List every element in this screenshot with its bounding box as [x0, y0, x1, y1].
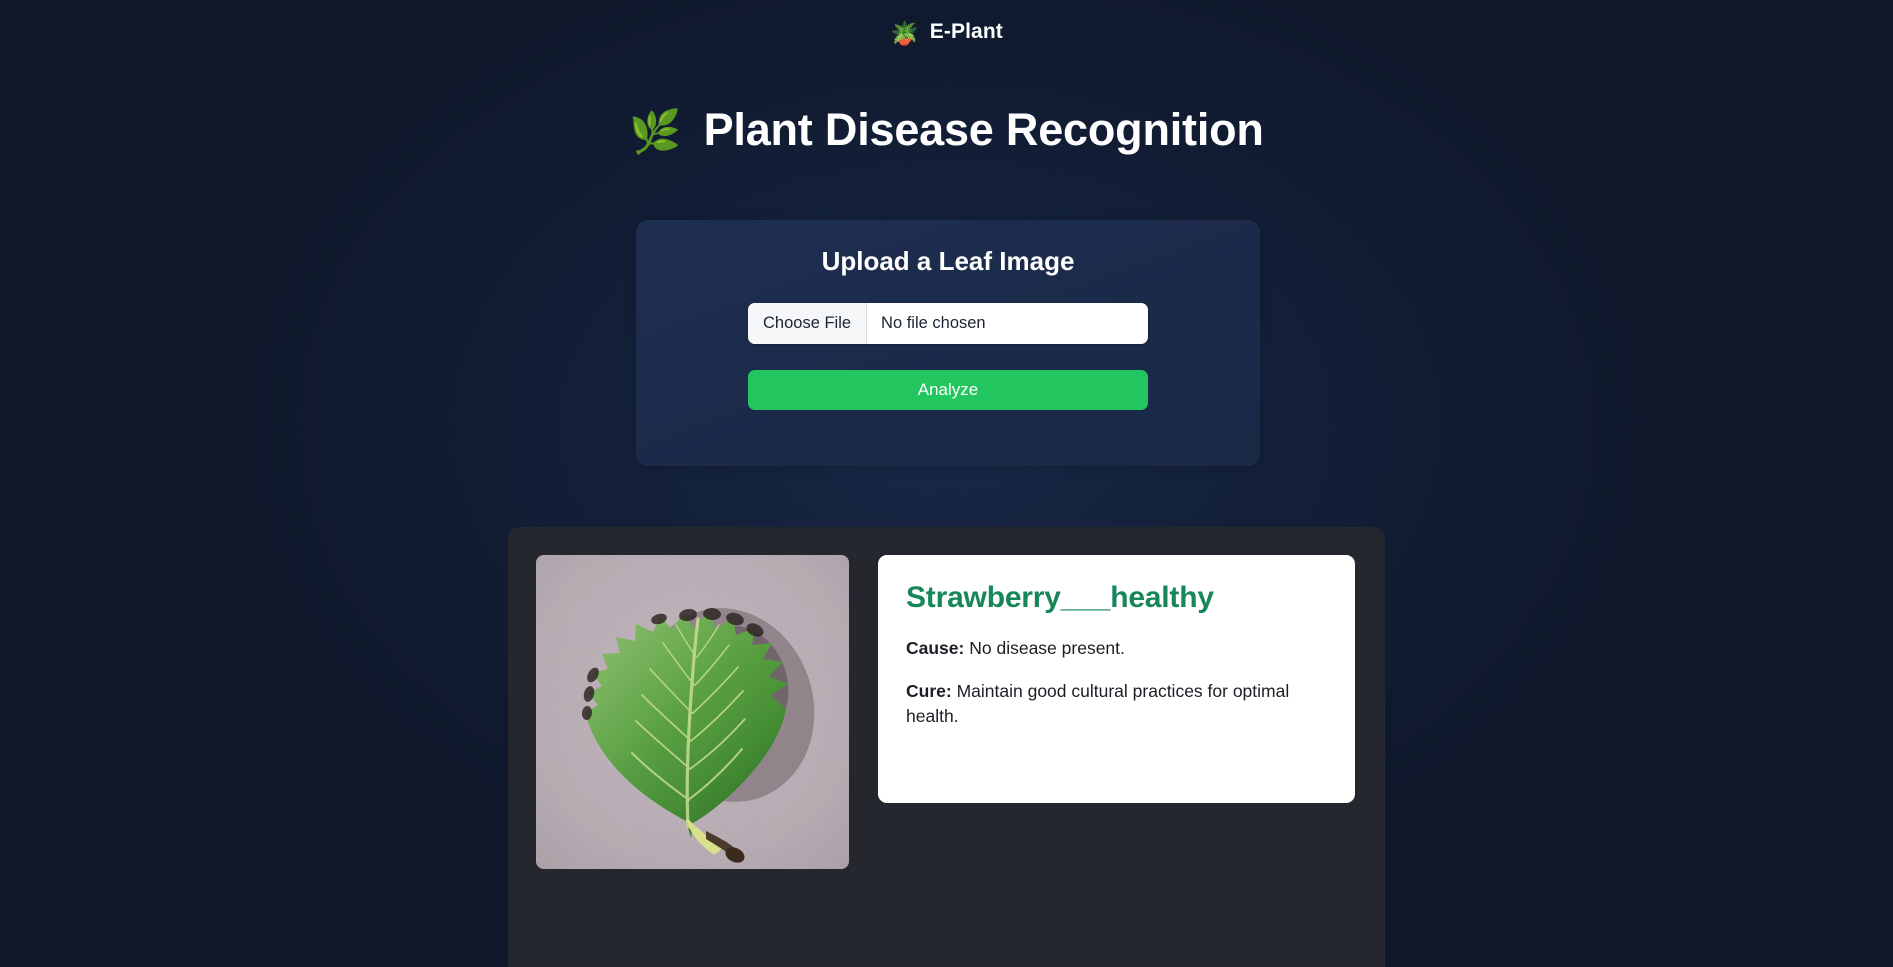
prediction-label: Strawberry___healthy [906, 581, 1327, 615]
app-header: 🪴 E-Plant [0, 0, 1893, 56]
page-title: 🌿 Plant Disease Recognition [0, 104, 1893, 156]
cause-text: No disease present. [969, 638, 1125, 658]
potted-plant-icon: 🪴 [890, 22, 919, 45]
upload-card-title: Upload a Leaf Image [636, 246, 1260, 277]
chosen-file-name: No file chosen [867, 303, 1148, 344]
cure-line: Cure: Maintain good cultural practices f… [906, 679, 1327, 730]
upload-card: Upload a Leaf Image Choose File No file … [636, 220, 1260, 466]
choose-file-button[interactable]: Choose File [748, 303, 867, 344]
result-panel: Strawberry___healthy Cause: No disease p… [508, 527, 1385, 967]
herb-leaf-icon: 🌿 [629, 111, 681, 153]
file-input[interactable]: Choose File No file chosen [748, 303, 1148, 344]
app-title: E-Plant [930, 20, 1003, 44]
analyze-button[interactable]: Analyze [748, 370, 1148, 410]
page-title-text: Plant Disease Recognition [704, 104, 1264, 156]
cure-label: Cure: [906, 681, 952, 701]
cause-line: Cause: No disease present. [906, 636, 1327, 662]
leaf-photo-graphic [536, 555, 849, 869]
cause-label: Cause: [906, 638, 964, 658]
diagnosis-card: Strawberry___healthy Cause: No disease p… [878, 555, 1355, 803]
cure-text: Maintain good cultural practices for opt… [906, 681, 1289, 727]
leaf-preview-image [536, 555, 849, 869]
